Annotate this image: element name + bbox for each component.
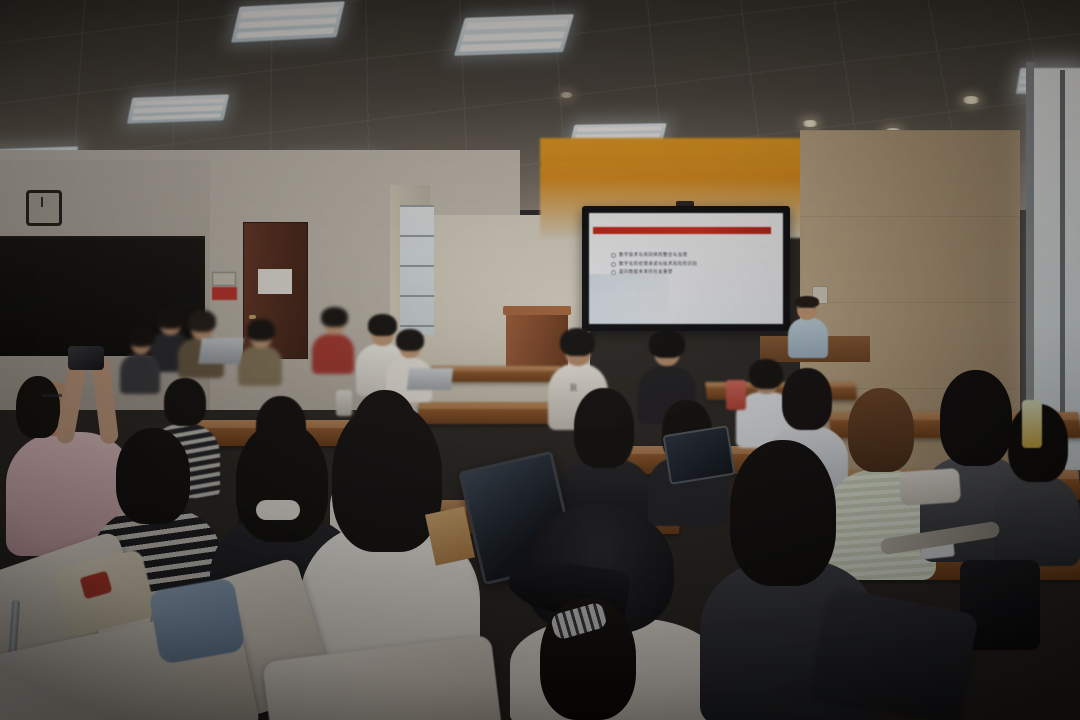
audience-member [238, 322, 282, 380]
sprinkler-head [424, 140, 429, 147]
slide-accent-bar [593, 227, 771, 234]
ceiling-panel-light [231, 1, 345, 42]
audience-member [312, 310, 354, 368]
glasses-icon [42, 394, 62, 397]
denim-jacket [148, 577, 246, 665]
water-bottle[interactable] [726, 380, 746, 410]
glasses-icon [797, 307, 816, 312]
wall-sign [212, 272, 236, 286]
slide-bullet-list: 数字技术与共同体的整合与治理 数字化的伦理承诺与技术风险的识别 面向数据未来的社… [619, 251, 759, 277]
slide-bullet-2: 数字化的伦理承诺与技术风险的识别 [619, 260, 759, 269]
ceiling-panel-light [127, 94, 229, 123]
water-bottle[interactable] [1022, 400, 1042, 448]
slide-surface: 数字技术与共同体的整合与治理 数字化的伦理承诺与技术风险的识别 面向数据未来的社… [589, 213, 783, 324]
audience-member-with-cap [500, 468, 730, 720]
presenter [786, 296, 830, 354]
smartphone[interactable] [68, 346, 104, 370]
wall-sign-red [212, 287, 237, 300]
ceiling-downlight [962, 96, 980, 104]
slide-bullet-1: 数字技术与共同体的整合与治理 [619, 251, 759, 260]
laptop[interactable] [407, 368, 453, 390]
screen-glare [589, 274, 669, 324]
door-knob[interactable] [249, 315, 256, 319]
ceiling-panel-light [454, 14, 574, 56]
ceiling-downlight [802, 120, 818, 127]
tissue-pack [899, 468, 961, 506]
wall-clock [26, 190, 62, 226]
hair-scrunchie [256, 500, 300, 520]
laptop[interactable] [198, 338, 244, 364]
ceiling-downlight [560, 92, 573, 98]
door-notice [258, 269, 292, 294]
photo-scene: 数字技术与共同体的整合与治理 数字化的伦理承诺与技术风险的识别 面向数据未来的社… [0, 0, 1080, 720]
